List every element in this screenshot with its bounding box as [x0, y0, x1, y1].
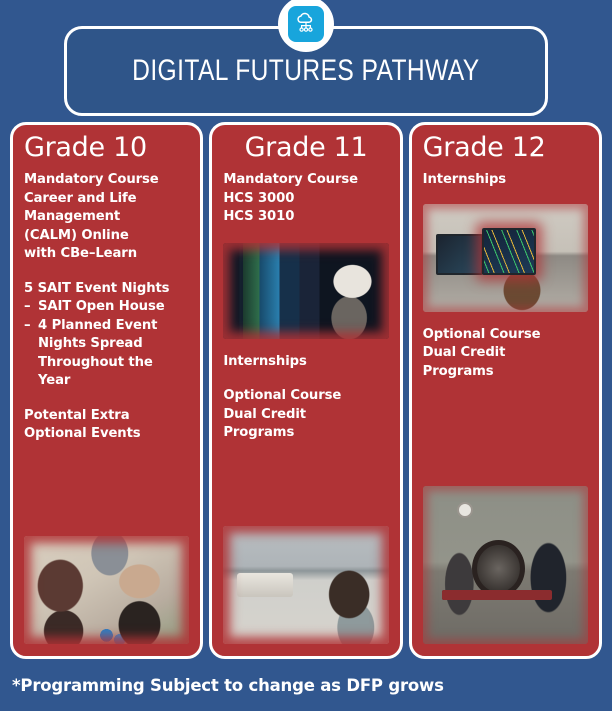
text-line: with CBe–Learn: [24, 245, 189, 263]
list-item-label: SAIT Open House: [38, 299, 165, 314]
text-line: Internships: [423, 171, 588, 189]
grade-10-events-block: 5 SAIT Event Nights – SAIT Open House – …: [24, 280, 189, 391]
bullet-dash-icon: –: [24, 298, 31, 316]
text-line: Mandatory Course: [223, 171, 388, 189]
text-line: Dual Credit: [423, 344, 588, 362]
layout-spacer: [423, 383, 588, 486]
photo-shop-machine: [423, 486, 588, 644]
text-line: Management: [24, 208, 189, 226]
grade-10-mandatory-block: Mandatory Course Career and Life Managem…: [24, 171, 189, 263]
grade-card-10[interactable]: Grade 10 Mandatory Course Career and Lif…: [10, 122, 203, 659]
photo-workstation-monitors: [423, 204, 588, 312]
grade-card-11[interactable]: Grade 11 Mandatory Course HCS 3000 HCS 3…: [209, 122, 402, 659]
grade-11-optional-block: Optional Course Dual Credit Programs: [223, 387, 388, 442]
list-item-continuation: Throughout the: [24, 354, 189, 372]
footer-note: *Programming Subject to change as DFP gr…: [12, 676, 444, 695]
cloud-network-icon: [293, 11, 319, 37]
text-line: Programs: [223, 424, 388, 442]
text-line: (CALM) Online: [24, 227, 189, 245]
grade-11-heading: Grade 11: [223, 134, 388, 162]
page-title: DIGITAL FUTURES PATHWAY: [132, 54, 479, 88]
badge-tile: [288, 6, 324, 42]
grade-10-heading: Grade 10: [24, 134, 189, 162]
grade-10-optional-block: Potental Extra Optional Events: [24, 407, 189, 444]
wall-clock-icon: [457, 502, 473, 518]
text-line: Optional Course: [223, 387, 388, 405]
infographic-poster: DIGITAL FUTURES PATHWAY Grade 10 Mandato…: [0, 0, 612, 711]
text-line: Optional Events: [24, 425, 189, 443]
poster-footer: *Programming Subject to change as DFP gr…: [0, 659, 612, 711]
text-line: Programs: [423, 363, 588, 381]
list-item-continuation: Nights Spread: [24, 335, 189, 353]
text-line: Dual Credit: [223, 406, 388, 424]
layout-spacer: [24, 446, 189, 536]
bullet-dash-icon: –: [24, 317, 31, 335]
text-line: Optional Course: [423, 326, 588, 344]
grade-12-internships-block: Internships: [423, 171, 588, 189]
layout-spacer: [223, 445, 388, 526]
text-line: Mandatory Course: [24, 171, 189, 189]
photo-students-robotics: [24, 536, 189, 644]
text-line: HCS 3000: [223, 190, 388, 208]
grade-12-heading: Grade 12: [423, 134, 588, 162]
list-item-continuation: Year: [24, 372, 189, 390]
text-line: HCS 3010: [223, 208, 388, 226]
poster-header: DIGITAL FUTURES PATHWAY: [0, 0, 612, 122]
text-line: Internships: [223, 353, 388, 371]
grade-card-12[interactable]: Grade 12 Internships Optional Course Dua…: [409, 122, 602, 659]
grade-12-optional-block: Optional Course Dual Credit Programs: [423, 326, 588, 381]
list-item-label: 4 Planned Event: [38, 318, 157, 333]
grade-11-mandatory-block: Mandatory Course HCS 3000 HCS 3010: [223, 171, 388, 226]
grade-columns: Grade 10 Mandatory Course Career and Lif…: [0, 122, 612, 659]
list-item: – SAIT Open House: [24, 298, 189, 316]
grade-11-internships-block: Internships: [223, 353, 388, 371]
photo-electronics-lab: [223, 526, 388, 644]
text-line: Potental Extra: [24, 407, 189, 425]
text-line: Career and Life: [24, 190, 189, 208]
list-item: – 4 Planned Event: [24, 317, 189, 335]
text-line: 5 SAIT Event Nights: [24, 280, 189, 298]
photo-vr-headset: [223, 243, 388, 339]
